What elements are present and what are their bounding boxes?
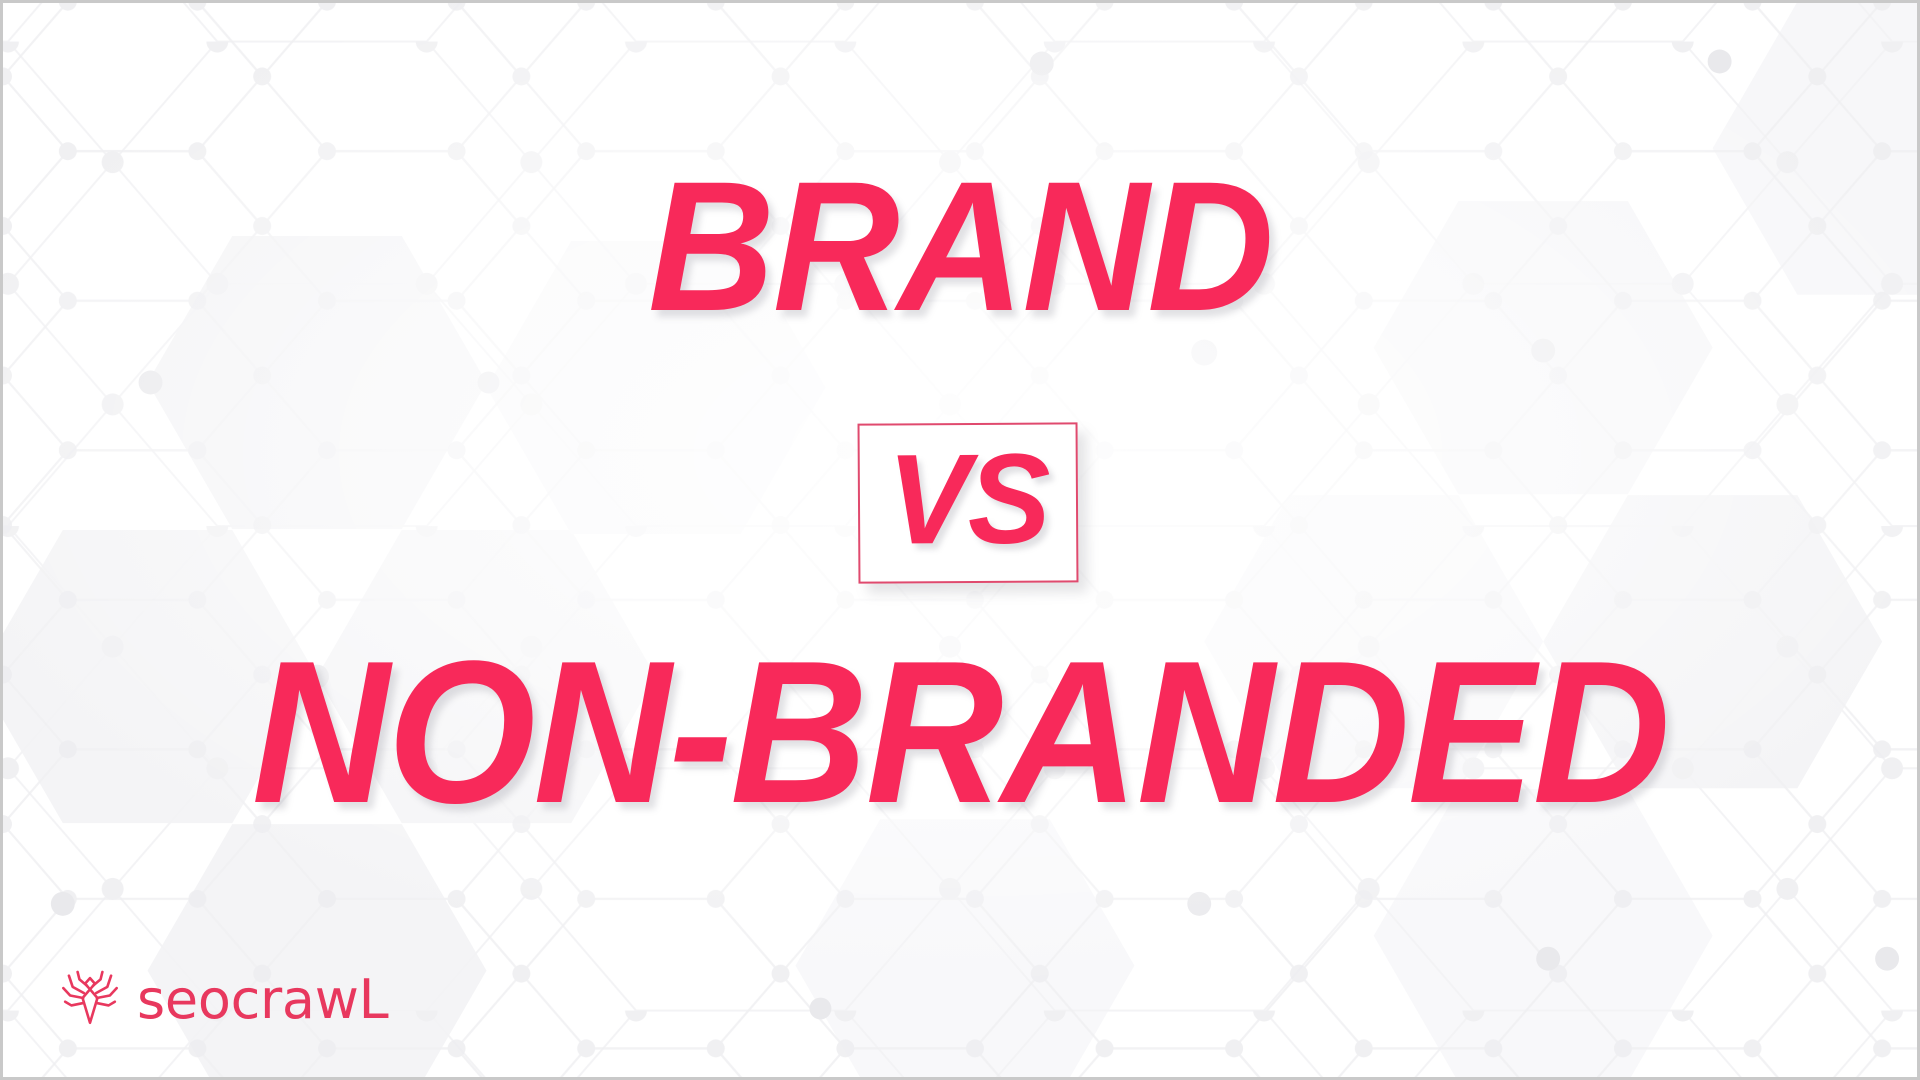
slide-canvas: BRAND NON-BRANDED VS [0, 0, 1920, 1080]
spider-icon [59, 967, 121, 1029]
headline-line-non-branded: NON-BRANDED [252, 631, 1668, 834]
logo-wordmark: seocrawL [137, 973, 388, 1027]
headline-line-brand: BRAND [648, 155, 1272, 340]
brand-logo: seocrawL [59, 967, 388, 1029]
vs-badge: VS [858, 422, 1079, 583]
vs-badge-label: VS [887, 436, 1048, 565]
